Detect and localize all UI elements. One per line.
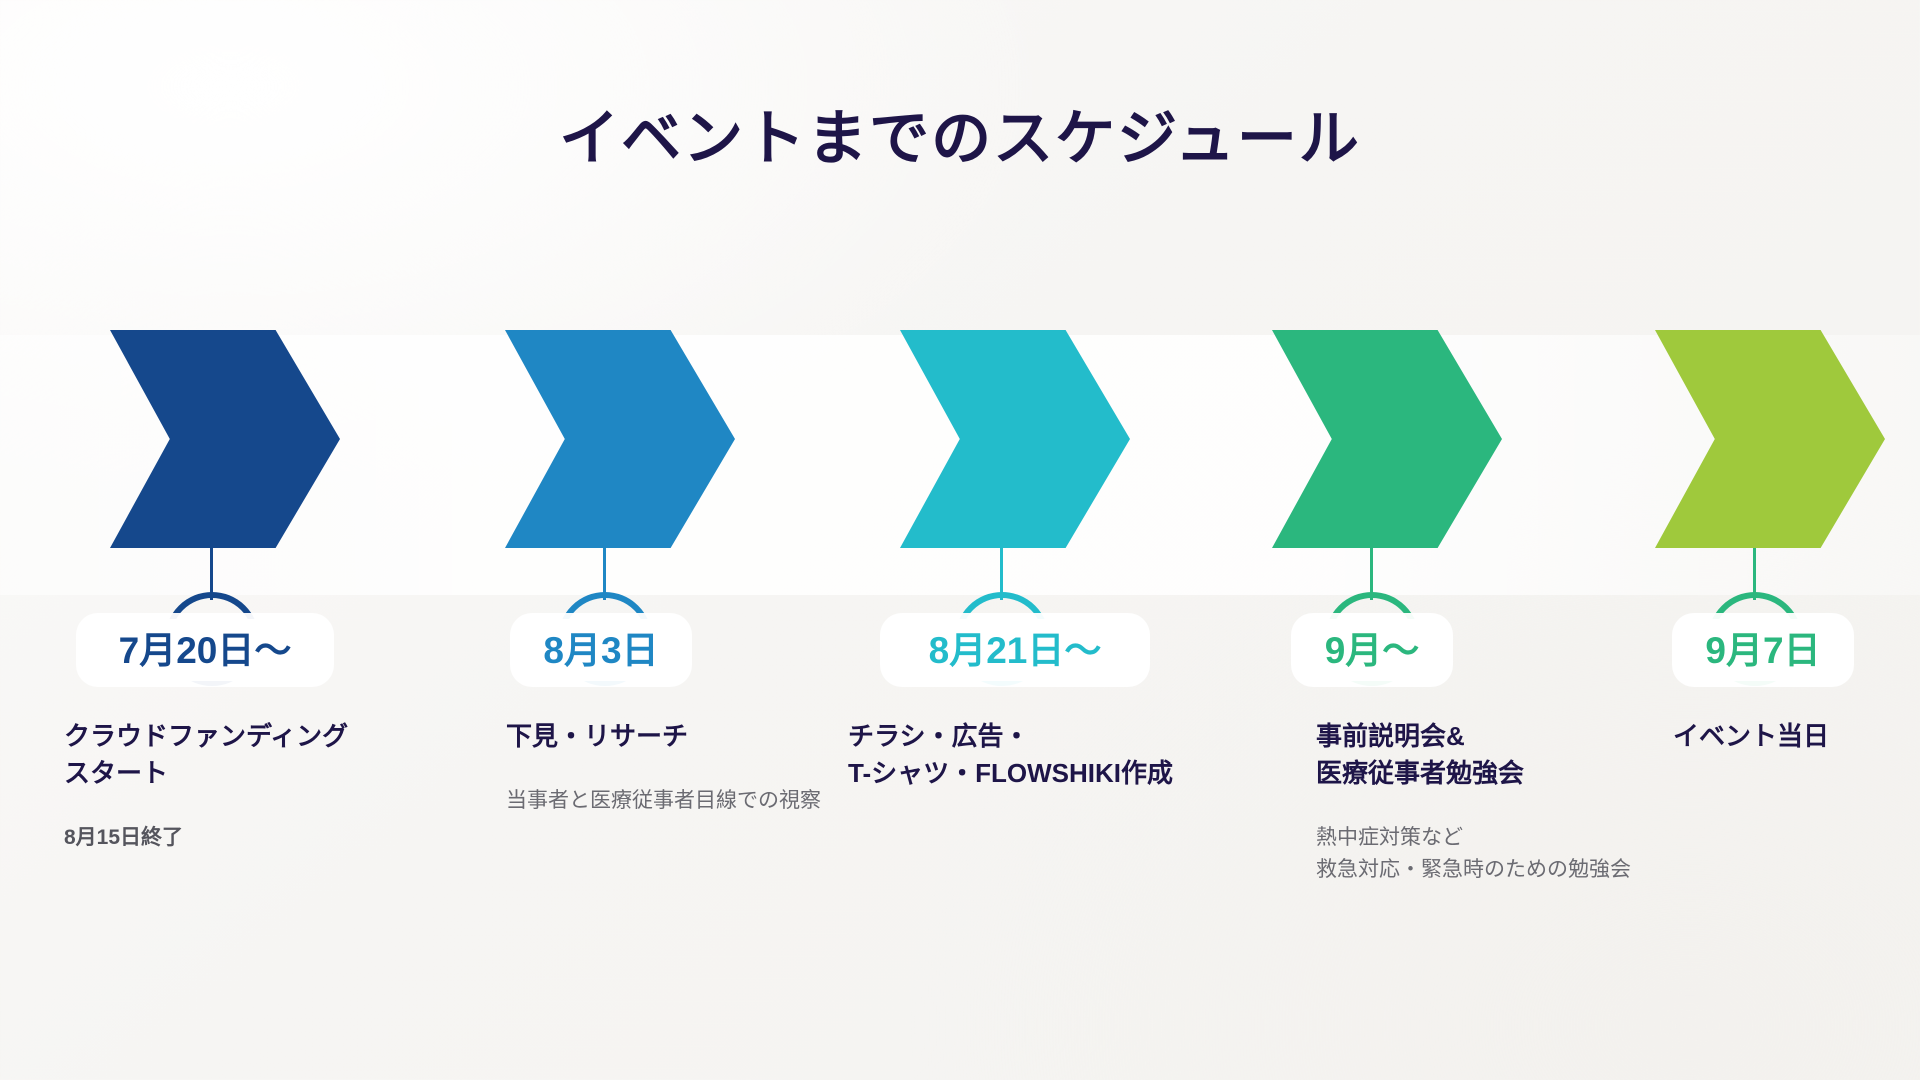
- date-label-4: 9月〜: [1325, 632, 1420, 669]
- step-caption-4: 熱中症対策など 救急対応・緊急時のための勉強会: [1316, 822, 1736, 887]
- chevron-arrow-5: [1655, 330, 1885, 548]
- step-label-2: 下見・リサーチ: [506, 718, 886, 755]
- date-badge-1: 7月20日〜: [82, 619, 328, 681]
- step-label-5: イベント当日: [1673, 718, 1920, 755]
- date-label-1: 7月20日〜: [119, 632, 292, 669]
- step-text-block-3: チラシ・広告・ T-シャツ・FLOWSHIKI作成: [848, 718, 1268, 792]
- chevron-arrow-2: [505, 330, 735, 548]
- chevron-arrow-4: [1272, 330, 1502, 548]
- step-text-block-5: イベント当日: [1673, 718, 1920, 755]
- step-text-block-2: 下見・リサーチ当事者と医療従事者目線での視察: [506, 718, 886, 817]
- date-badge-3: 8月21日〜: [886, 619, 1144, 681]
- chevron-arrow-3: [900, 330, 1130, 548]
- date-badge-2: 8月3日: [516, 619, 686, 681]
- step-caption-2: 当事者と医療従事者目線での視察: [506, 785, 886, 818]
- page-title-container: イベントまでのスケジュール: [0, 106, 1920, 172]
- date-label-3: 8月21日〜: [929, 632, 1102, 669]
- step-label-3: チラシ・広告・ T-シャツ・FLOWSHIKI作成: [848, 718, 1268, 792]
- timeline: 7月20日〜クラウドファンディング スタート8月15日終了8月3日下見・リサーチ…: [0, 330, 1920, 970]
- step-label-1: クラウドファンディング スタート: [64, 718, 484, 792]
- date-badge-5: 9月7日: [1678, 619, 1848, 681]
- step-text-block-1: クラウドファンディング スタート8月15日終了: [64, 718, 484, 854]
- step-caption-1: 8月15日終了: [64, 822, 484, 855]
- date-label-2: 8月3日: [543, 632, 658, 669]
- chevron-arrow-1: [110, 330, 340, 548]
- date-label-5: 9月7日: [1705, 632, 1820, 669]
- page-title: イベントまでのスケジュール: [559, 106, 1361, 172]
- date-badge-4: 9月〜: [1297, 619, 1447, 681]
